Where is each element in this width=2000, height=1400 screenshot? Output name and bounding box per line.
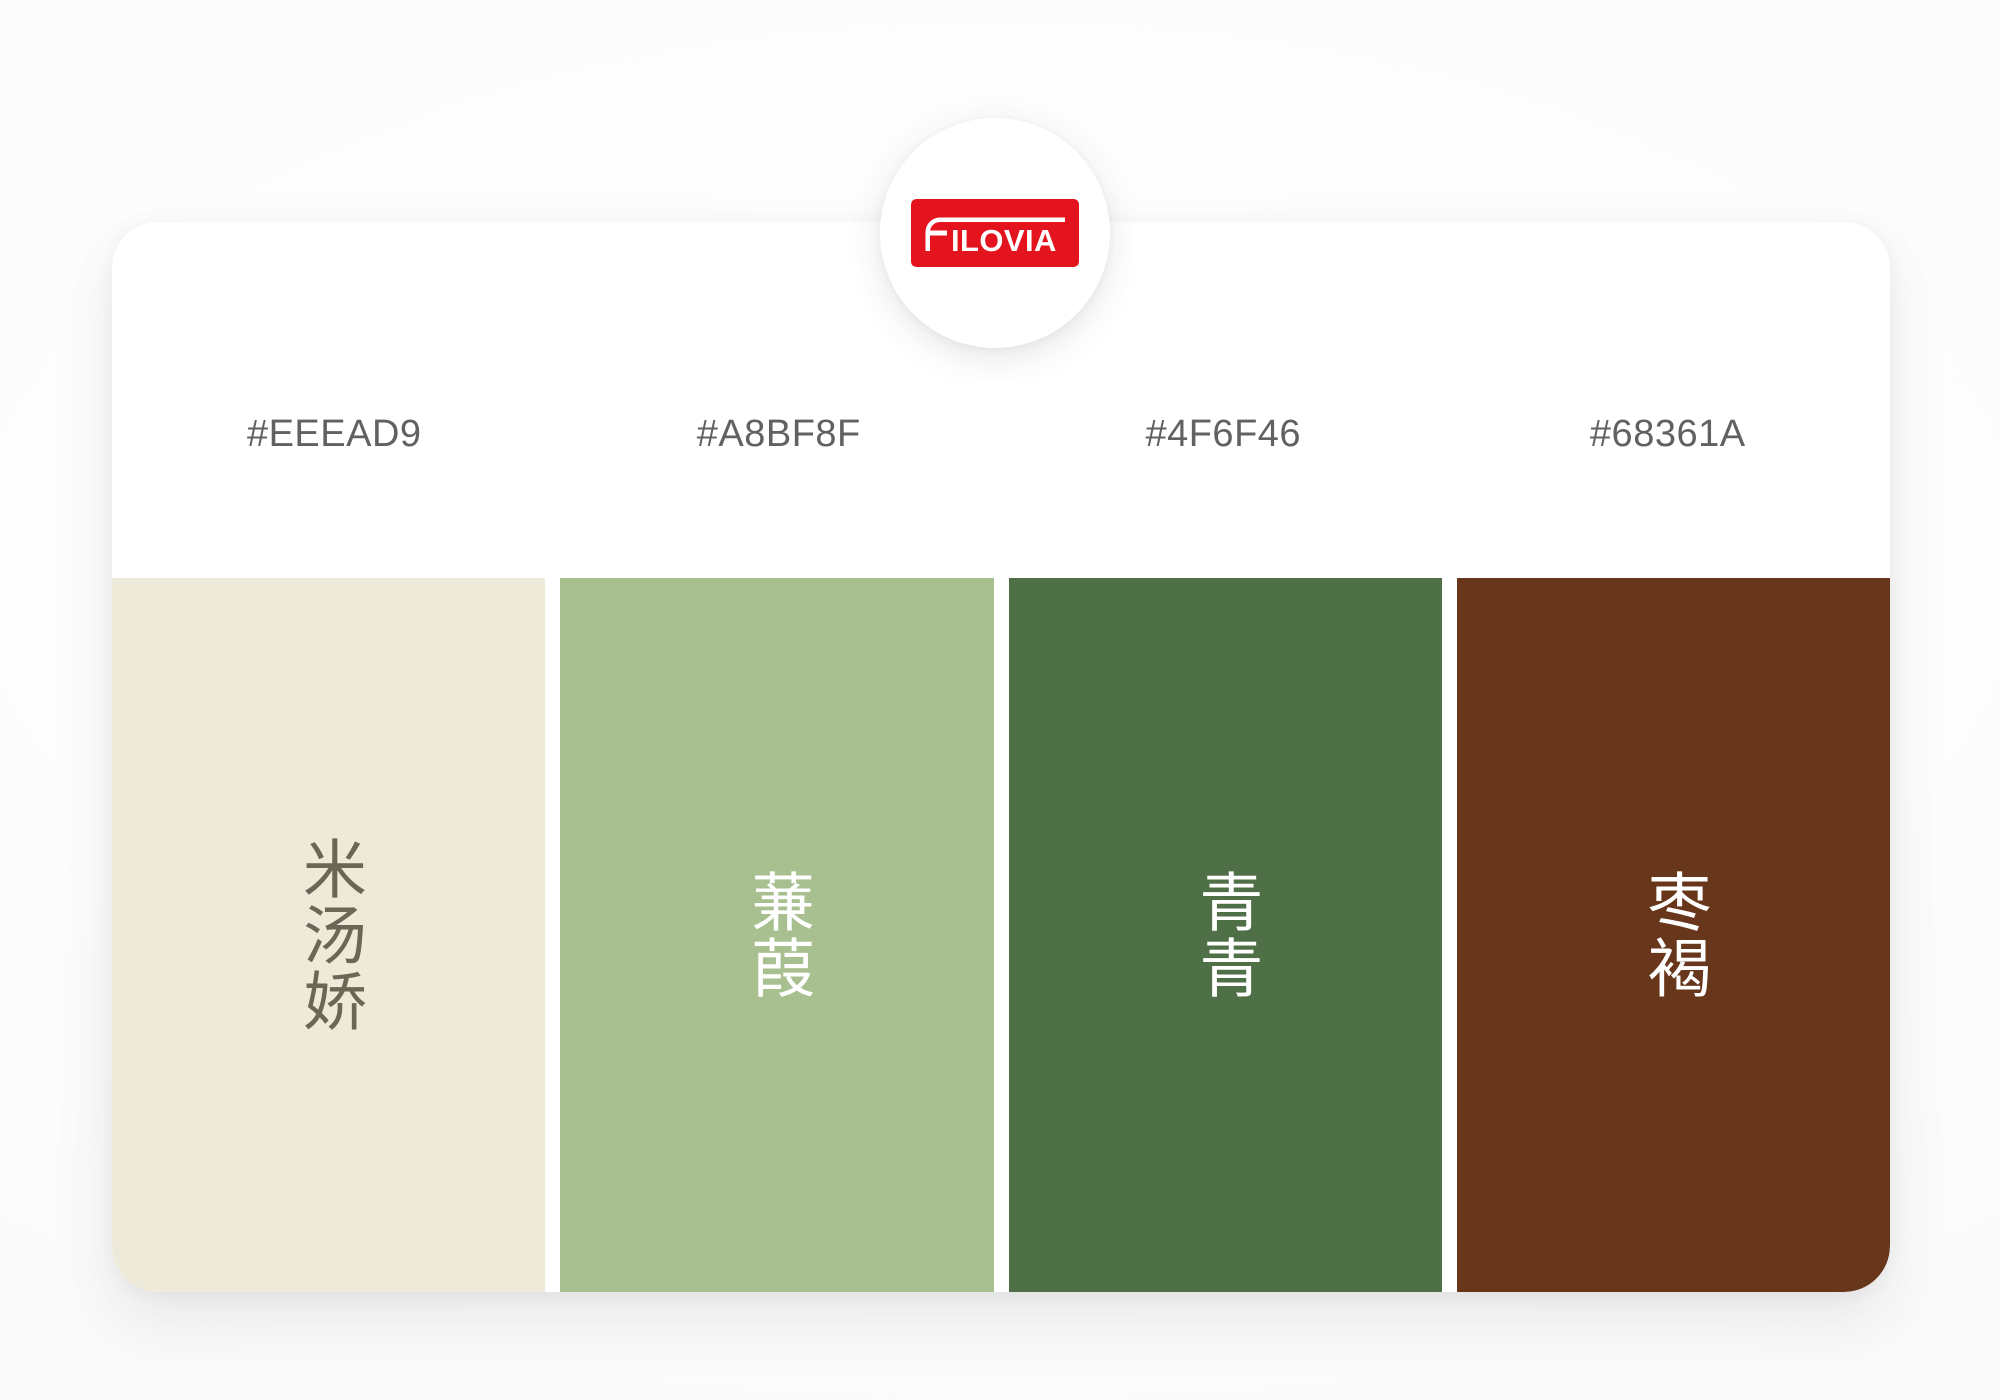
color-swatch-4[interactable]: 枣褐 xyxy=(1457,578,1890,1292)
hex-code-label-3[interactable]: #4F6F46 xyxy=(1145,413,1301,456)
filovia-logo-icon: ILOVIA xyxy=(911,199,1079,267)
color-swatch-1[interactable]: 米汤娇 xyxy=(112,578,545,1292)
color-name-label-4: 枣褐 xyxy=(1631,869,1715,1001)
color-swatch-2[interactable]: 蒹葭 xyxy=(560,578,993,1292)
color-name-label-2: 蒹葭 xyxy=(735,869,819,1001)
svg-text:ILOVIA: ILOVIA xyxy=(951,223,1057,258)
color-swatch-strip: 米汤娇 蒹葭 青青 枣褐 xyxy=(112,578,1890,1292)
brand-logo-badge[interactable]: ILOVIA xyxy=(880,118,1110,348)
color-name-label-1: 米汤娇 xyxy=(286,836,370,1034)
hex-cell-1: #EEEAD9 xyxy=(112,222,557,578)
hex-code-label-1[interactable]: #EEEAD9 xyxy=(247,413,422,456)
color-palette-card: #EEEAD9 #A8BF8F #4F6F46 #68361A 米汤娇 蒹葭 青… xyxy=(112,222,1890,1292)
hex-code-label-2[interactable]: #A8BF8F xyxy=(697,413,861,456)
hex-cell-4: #68361A xyxy=(1446,222,1891,578)
color-swatch-3[interactable]: 青青 xyxy=(1009,578,1442,1292)
hex-code-label-4[interactable]: #68361A xyxy=(1590,413,1746,456)
color-name-label-3: 青青 xyxy=(1183,869,1267,1001)
